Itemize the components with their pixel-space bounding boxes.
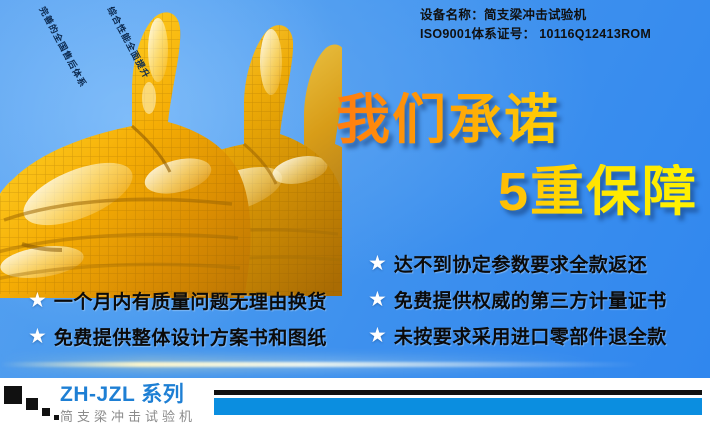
golden-hands-illustration xyxy=(0,0,342,324)
square-icon-4 xyxy=(54,415,59,420)
square-icon-1 xyxy=(4,386,22,404)
star-icon: ★ xyxy=(28,290,47,311)
promise-item-right-2: ★ 免费提供权威的第三方计量证书 xyxy=(368,286,667,313)
headline-block: 我们承诺 5重保障 xyxy=(330,92,702,220)
promise-text: 达不到协定参数要求全款返还 xyxy=(394,250,648,277)
star-icon: ★ xyxy=(368,325,387,346)
series-name: ZH-JZL 系列 xyxy=(60,382,196,407)
promise-item-left-2: ★ 免费提供整体设计方案书和图纸 xyxy=(28,323,327,350)
star-icon: ★ xyxy=(368,289,387,310)
promise-text: 一个月内有质量问题无理由换货 xyxy=(54,287,327,314)
device-name-label: 设备名称：简支梁冲击试验机 xyxy=(420,6,700,25)
square-icon-2 xyxy=(26,398,38,410)
headline-line-2: 5重保障 xyxy=(330,164,698,220)
iso-certificate-label: ISO9001体系证号： 10116Q12413ROM xyxy=(420,25,700,44)
footer-rule-group xyxy=(214,390,702,415)
headline-line-1: 我们承诺 xyxy=(336,92,702,148)
series-subtitle: 简支梁冲击试验机 xyxy=(60,407,196,427)
star-icon: ★ xyxy=(368,253,387,274)
header-info: 设备名称：简支梁冲击试验机 ISO9001体系证号： 10116Q12413RO… xyxy=(420,6,700,44)
promise-item-left-1: ★ 一个月内有质量问题无理由换货 xyxy=(28,287,327,314)
promise-text: 未按要求采用进口零部件退全款 xyxy=(394,322,667,349)
promise-item-right-1: ★ 达不到协定参数要求全款返还 xyxy=(368,250,647,277)
footer-bar: ZH-JZL 系列 简支梁冲击试验机 xyxy=(0,378,710,434)
decorative-squares xyxy=(4,384,64,424)
footer-rule-dark xyxy=(214,390,702,395)
hands-svg xyxy=(0,0,342,324)
promo-banner: 完善的全国售后体系 综合性能全面提升 设备名称：简支梁冲击试验机 ISO9001… xyxy=(0,0,710,434)
square-icon-3 xyxy=(42,408,50,416)
footer-rule-blue xyxy=(214,398,702,415)
series-block: ZH-JZL 系列 简支梁冲击试验机 xyxy=(60,382,196,427)
light-streak xyxy=(0,362,640,367)
promise-item-right-3: ★ 未按要求采用进口零部件退全款 xyxy=(368,322,667,349)
star-icon: ★ xyxy=(28,326,47,347)
promise-text: 免费提供整体设计方案书和图纸 xyxy=(54,323,327,350)
promise-text: 免费提供权威的第三方计量证书 xyxy=(394,286,667,313)
